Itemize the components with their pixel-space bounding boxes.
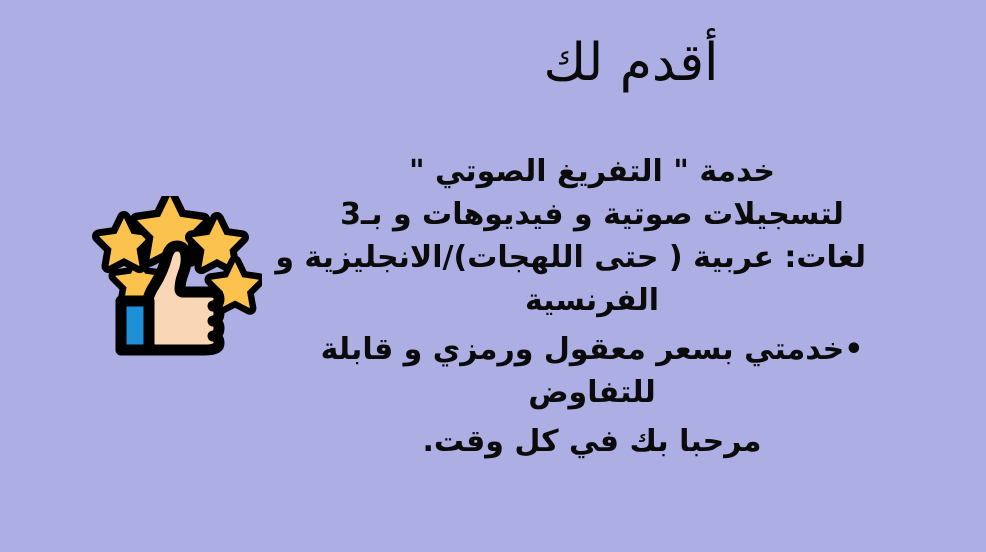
thumbs-up-five-stars-illustration <box>72 196 262 356</box>
slide-canvas: أقدم لك خدمة " التفريغ الصوتي " لتسجيلات… <box>0 0 986 552</box>
body-line-welcome: مرحبا بك في كل وقت. <box>318 420 866 463</box>
thumbs-up-five-stars-svg <box>72 196 262 356</box>
body-line-service-title: خدمة " التفريغ الصوتي " <box>318 150 866 193</box>
body-line-media-types: لتسجيلات صوتية و فيديوهات و بـ3 <box>318 193 866 236</box>
body-line-pricing: •خدمتي بسعر معقول ورمزي و قابلة <box>318 328 866 371</box>
body-line-languages: لغات: عربية ( حتى اللهجات)/الانجليزية و <box>318 236 866 279</box>
body-line-languages-cont: الفرنسية <box>318 279 866 322</box>
thumbs-up-cuff <box>121 301 149 350</box>
page-title: أقدم لك <box>544 34 719 94</box>
body-line-pricing-cont: للتفاوض <box>318 371 866 414</box>
body-text-block: خدمة " التفريغ الصوتي " لتسجيلات صوتية و… <box>318 150 866 463</box>
title-block: أقدم لك <box>0 34 986 94</box>
